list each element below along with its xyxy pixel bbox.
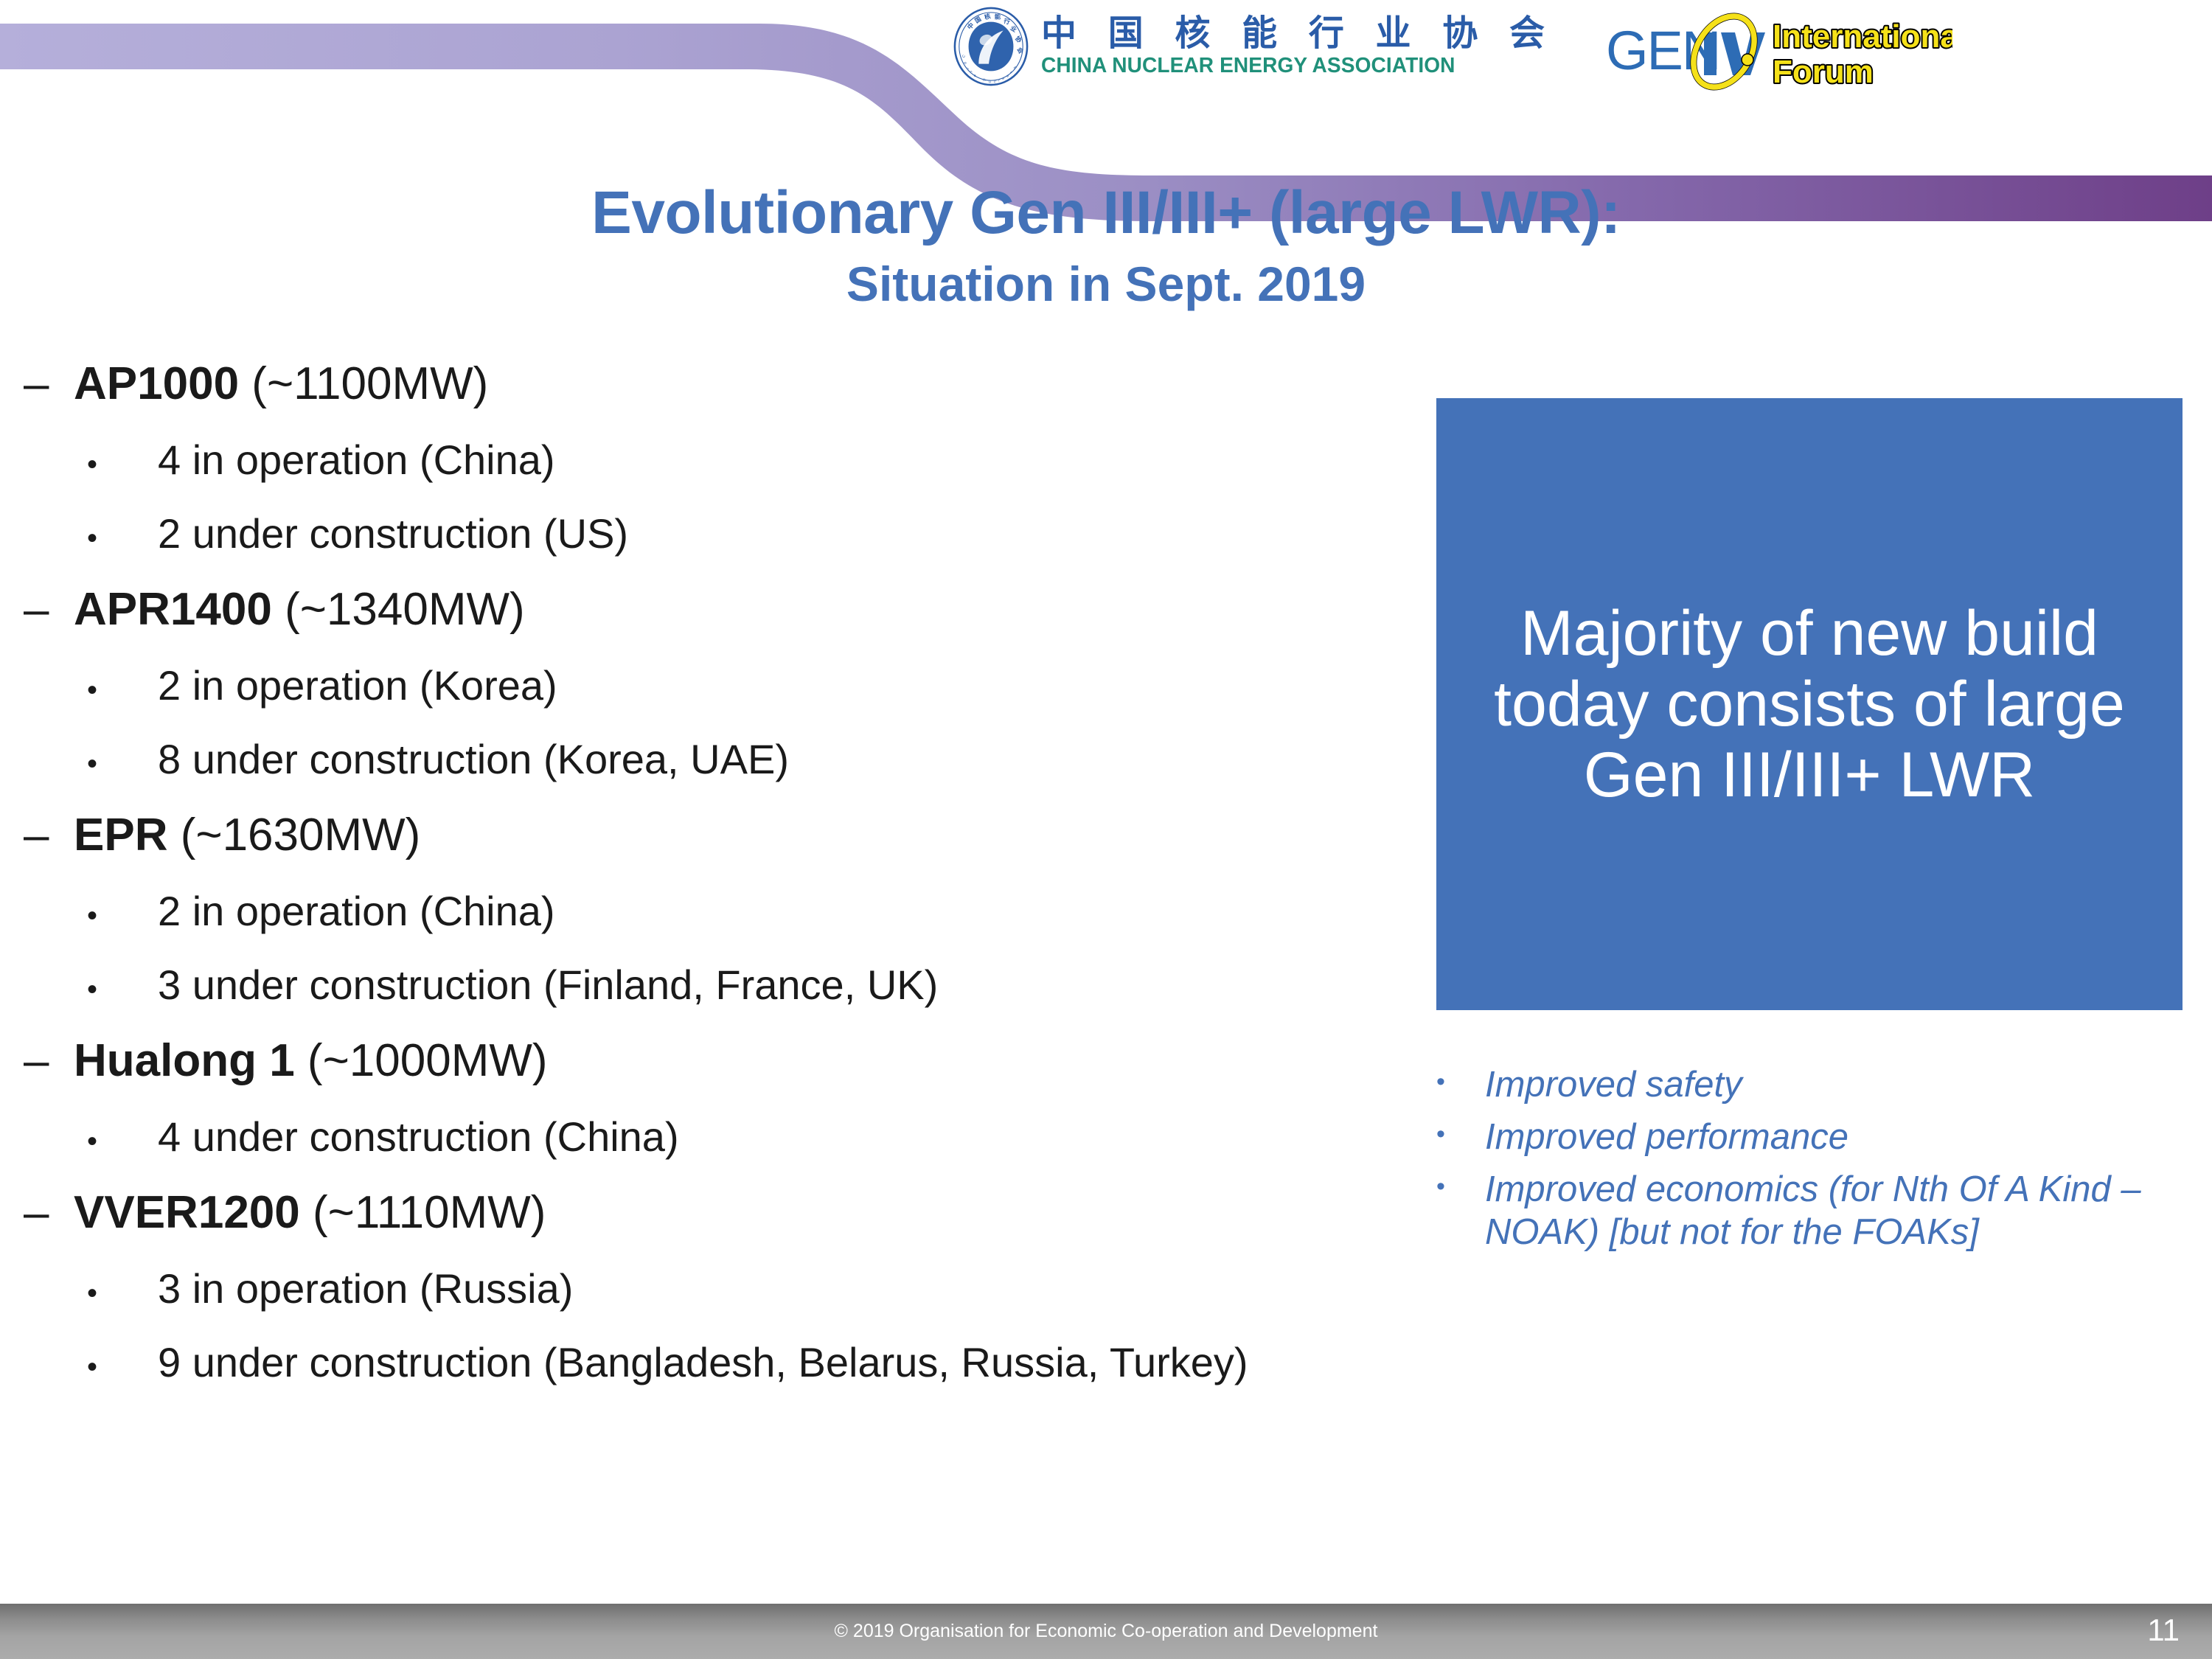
reactor-type-list: –AP1000 (~1100MW)•4 in operation (China)… — [16, 361, 1417, 1416]
header-logos: 中 国 核 能 行 业 协 会 C h i n a N u c l e — [951, 6, 1952, 102]
reactor-status-row: •9 under construction (Bangladesh, Belar… — [16, 1342, 1417, 1408]
reactor-status-row: •3 in operation (Russia) — [16, 1268, 1417, 1335]
dot-bullet-marker: • — [87, 524, 158, 553]
benefit-row: •Improved performance — [1436, 1116, 2211, 1159]
reactor-status-row: •8 under construction (Korea, UAE) — [16, 739, 1417, 805]
dot-bullet-marker: • — [87, 675, 158, 705]
svg-text:u: u — [989, 80, 991, 84]
dot-bullet-marker: • — [87, 975, 158, 1004]
dash-bullet-marker: – — [16, 587, 74, 633]
cnea-seal-icon: 中 国 核 能 行 业 协 会 C h i n a N u c l e — [951, 6, 1031, 87]
reactor-type-label: EPR (~1630MW) — [74, 813, 420, 858]
dot-bullet-marker: • — [1436, 1116, 1485, 1151]
reactor-type-label: VVER1200 (~1110MW) — [74, 1190, 546, 1236]
dot-bullet-marker: • — [87, 1279, 158, 1308]
reactor-capacity: (~1340MW) — [285, 584, 525, 635]
reactor-capacity: (~1630MW) — [181, 810, 421, 860]
reactor-status-label: 4 under construction (China) — [158, 1116, 679, 1158]
dot-bullet-marker: • — [1436, 1168, 1485, 1203]
reactor-type-row: –EPR (~1630MW) — [16, 813, 1417, 883]
title-line-2: Situation in Sept. 2019 — [0, 260, 2212, 308]
dash-bullet-marker: – — [16, 813, 74, 858]
gen-iv-international-forum-logo-icon: GEN International International Forum Fo… — [1606, 6, 1952, 94]
reactor-type-row: –APR1400 (~1340MW) — [16, 587, 1417, 658]
reactor-name: AP1000 — [74, 358, 239, 409]
reactor-capacity: (~1000MW) — [307, 1035, 548, 1086]
svg-text:International: International — [1773, 18, 1952, 55]
dot-bullet-marker: • — [87, 749, 158, 779]
reactor-name: Hualong 1 — [74, 1035, 295, 1086]
reactor-status-label: 9 under construction (Bangladesh, Belaru… — [158, 1342, 1248, 1383]
footer-bar: © 2019 Organisation for Economic Co-oper… — [0, 1604, 2212, 1659]
cnea-wordmark: 中 国 核 能 行 业 协 会 CHINA NUCLEAR ENERGY ASS… — [1041, 15, 1554, 77]
svg-text:GEN: GEN — [1606, 20, 1719, 81]
cnea-english-name: CHINA NUCLEAR ENERGY ASSOCIATION — [1041, 55, 1547, 77]
reactor-name: VVER1200 — [74, 1187, 300, 1238]
cnea-logo: 中 国 核 能 行 业 协 会 C h i n a N u c l e — [951, 6, 1554, 87]
dot-bullet-marker: • — [87, 450, 158, 479]
benefit-row: •Improved safety — [1436, 1063, 2211, 1107]
callout-box: Majority of new build today consists of … — [1436, 398, 2183, 1010]
benefit-row: •Improved economics (for Nth Of A Kind –… — [1436, 1168, 2211, 1255]
benefits-list: •Improved safety•Improved performance•Im… — [1436, 1063, 2211, 1263]
reactor-status-row: •4 in operation (China) — [16, 439, 1417, 506]
reactor-type-label: Hualong 1 (~1000MW) — [74, 1038, 548, 1084]
page-number: 11 — [2147, 1604, 2180, 1657]
title-line-1: Evolutionary Gen III/III+ (large LWR): — [0, 183, 2212, 243]
reactor-type-label: AP1000 (~1100MW) — [74, 361, 488, 407]
reactor-status-label: 3 under construction (Finland, France, U… — [158, 964, 938, 1006]
reactor-type-label: APR1400 (~1340MW) — [74, 587, 525, 633]
reactor-status-label: 4 in operation (China) — [158, 439, 555, 481]
reactor-capacity: (~1100MW) — [251, 358, 488, 409]
dash-bullet-marker: – — [16, 361, 74, 407]
reactor-status-label: 2 in operation (China) — [158, 891, 555, 932]
reactor-status-label: 8 under construction (Korea, UAE) — [158, 739, 789, 780]
benefit-label: Improved performance — [1485, 1116, 1848, 1159]
dot-bullet-marker: • — [87, 1352, 158, 1382]
svg-text:能: 能 — [995, 13, 1001, 20]
copyright-text: © 2019 Organisation for Economic Co-oper… — [0, 1604, 2212, 1659]
dot-bullet-marker: • — [87, 1127, 158, 1156]
dash-bullet-marker: – — [16, 1190, 74, 1236]
reactor-capacity: (~1110MW) — [313, 1187, 546, 1238]
reactor-status-row: •2 in operation (China) — [16, 891, 1417, 957]
reactor-type-row: –Hualong 1 (~1000MW) — [16, 1038, 1417, 1109]
dot-bullet-marker: • — [87, 901, 158, 931]
reactor-name: EPR — [74, 810, 167, 860]
reactor-status-row: •2 in operation (Korea) — [16, 665, 1417, 731]
reactor-status-label: 3 in operation (Russia) — [158, 1268, 573, 1310]
dot-bullet-marker: • — [1436, 1063, 1485, 1099]
reactor-status-label: 2 in operation (Korea) — [158, 665, 557, 706]
reactor-name: APR1400 — [74, 584, 272, 635]
benefit-label: Improved economics (for Nth Of A Kind – … — [1485, 1168, 2211, 1255]
reactor-type-row: –AP1000 (~1100MW) — [16, 361, 1417, 432]
cnea-chinese-name: 中 国 核 能 行 业 协 会 — [1041, 15, 1554, 52]
svg-text:Forum: Forum — [1773, 54, 1874, 90]
benefit-label: Improved safety — [1485, 1063, 1742, 1107]
reactor-status-row: •3 under construction (Finland, France, … — [16, 964, 1417, 1031]
callout-text: Majority of new build today consists of … — [1436, 598, 2183, 811]
reactor-status-row: •2 under construction (US) — [16, 513, 1417, 580]
reactor-status-label: 2 under construction (US) — [158, 513, 628, 554]
reactor-type-row: –VVER1200 (~1110MW) — [16, 1190, 1417, 1261]
dash-bullet-marker: – — [16, 1038, 74, 1084]
page-title: Evolutionary Gen III/III+ (large LWR): S… — [0, 183, 2212, 308]
reactor-status-row: •4 under construction (China) — [16, 1116, 1417, 1183]
